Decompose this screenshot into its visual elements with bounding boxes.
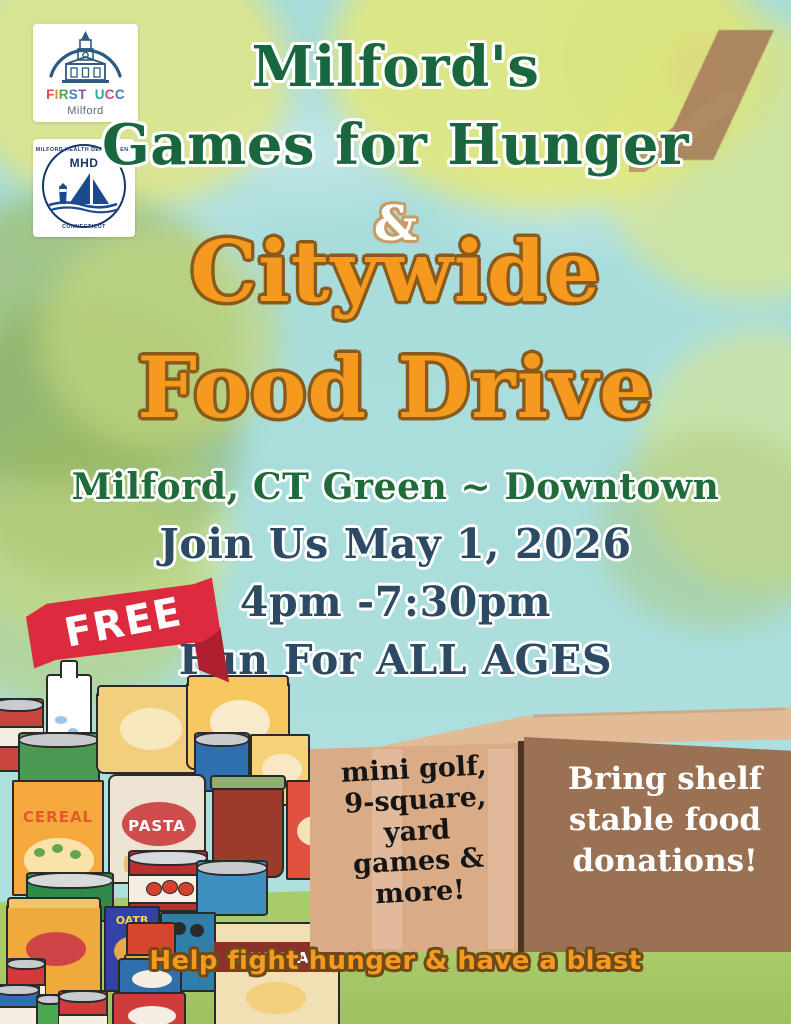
can-lid — [58, 990, 108, 1003]
donation-line: stable food — [540, 800, 790, 841]
can-lid — [26, 872, 114, 889]
bag-top — [7, 897, 101, 908]
bottle-neck — [60, 660, 78, 678]
bag-window — [120, 708, 182, 750]
title-line-1: Milford's — [0, 34, 791, 100]
donation-line: donations! — [540, 841, 790, 882]
box-corner-edge — [518, 741, 525, 952]
tomato-icon — [178, 882, 194, 896]
poster-canvas: FIRST UCC Milford MILFORD HEALTH DEPARTM… — [0, 0, 791, 1024]
box-donation-text: Bring shelf stable food donations! — [540, 759, 790, 882]
cereal-bit — [34, 848, 45, 857]
ampersand-glyph: & — [0, 196, 791, 252]
soup-cup — [112, 992, 186, 1024]
food-can — [58, 990, 108, 1024]
donation-line: Bring shelf — [540, 759, 790, 800]
event-location: Milford, CT Green ~ Downtown — [0, 466, 791, 508]
can-lid — [196, 860, 268, 876]
event-date: Join Us May 1, 2026 — [0, 520, 791, 568]
cereal-bit — [52, 844, 63, 853]
cup-label — [128, 1006, 176, 1024]
tomato-icon — [162, 880, 178, 894]
tomato-icon — [146, 882, 162, 896]
jar-lid — [210, 775, 286, 790]
can-lid — [0, 984, 40, 996]
can-label — [59, 1014, 107, 1024]
box-activities-text: mini golf, 9-square, yard games & more! — [314, 750, 520, 914]
olive-icon — [190, 924, 204, 937]
bottle-mark — [55, 716, 67, 724]
donation-box: mini golf, 9-square, yard games & more! … — [310, 707, 791, 952]
food-can — [196, 860, 268, 916]
poster-tagline: Help fight hunger & have a blast — [0, 946, 791, 976]
title-food-drive: Food Drive — [0, 338, 791, 437]
cereal-label: CEREAL — [14, 808, 102, 826]
can-lid — [18, 732, 100, 748]
can-lid — [194, 732, 250, 747]
pasta-label: PASTA — [110, 817, 204, 835]
can-lid — [0, 698, 44, 712]
cereal-bit — [70, 850, 81, 859]
oats-graphic — [246, 982, 306, 1014]
title-line-2: Games for Hunger — [0, 112, 791, 178]
food-can — [0, 984, 40, 1024]
bag-top — [187, 675, 289, 686]
can-label — [0, 1006, 39, 1024]
